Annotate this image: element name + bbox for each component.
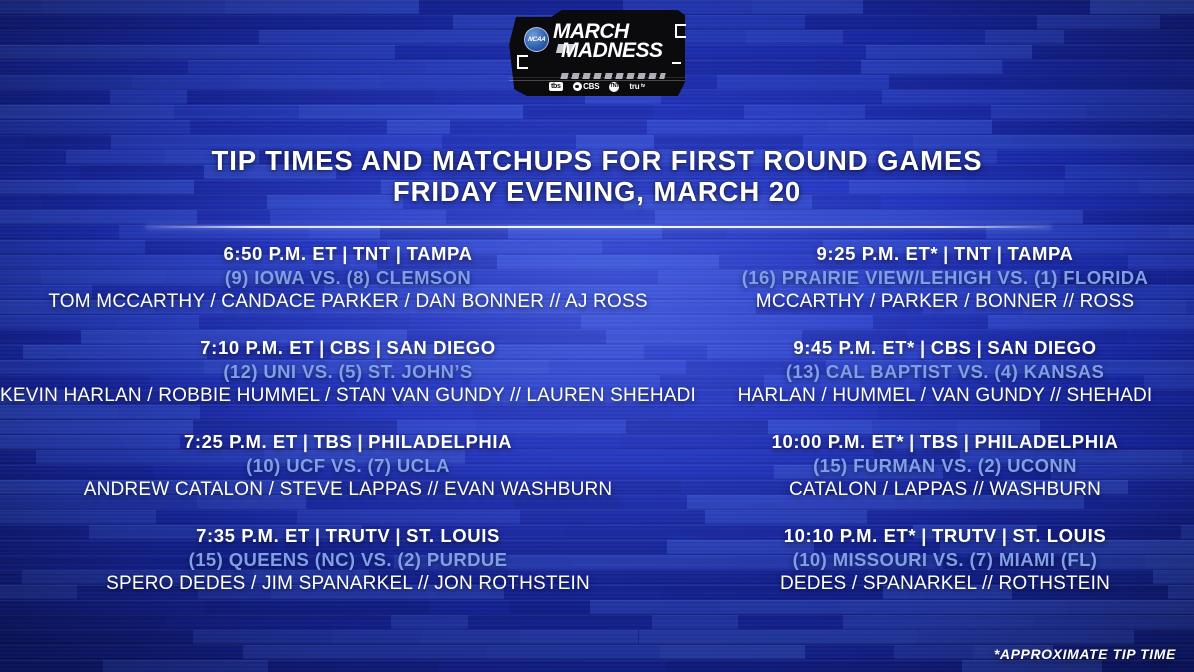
game-network: TRUTV: [326, 525, 391, 546]
game-city: ST. LOUIS: [1012, 525, 1106, 546]
game-city: PHILADELPHIA: [368, 431, 512, 452]
header-separator: |: [390, 525, 406, 546]
game-city: SAN DIEGO: [387, 337, 496, 358]
tbs-logo-label: tbs: [549, 82, 563, 91]
header-separator: |: [916, 525, 932, 546]
game-time: 10:10 P.M. ET*: [784, 525, 916, 546]
approximate-tip-time-footnote: *APPROXIMATE TIP TIME: [994, 646, 1176, 662]
ncaa-mark-label: NCAA: [527, 36, 546, 43]
game-broadcast-crew: TOM MCCARTHY / CANDACE PARKER / DAN BONN…: [0, 291, 696, 313]
tnt-logo-icon: TNT: [609, 82, 619, 92]
page-title-line1: TIP TIMES AND MATCHUPS FOR FIRST ROUND G…: [212, 145, 983, 176]
tbs-logo-icon: tbs: [549, 82, 563, 91]
header-separator: |: [938, 243, 954, 264]
march-madness-logo-wrap: NCAA MARCH MADNESS tbs CBS: [0, 10, 1194, 96]
game-matchup: (15) FURMAN VS. (2) UCONN: [696, 455, 1194, 477]
network-logo-row: tbs CBS TNT trutv: [509, 79, 685, 94]
logo-wordmark: MARCH MADNESS: [553, 22, 671, 61]
game-city: TAMPA: [407, 243, 473, 264]
game-network: TBS: [314, 431, 353, 452]
game-broadcast-crew: DEDES / SPANARKEL // ROTHSTEIN: [696, 573, 1194, 595]
trutv-logo-icon: trutv: [629, 83, 645, 91]
game-header: 7:35 P.M. ET|TRUTV|ST. LOUIS: [0, 525, 696, 547]
header-separator: |: [915, 337, 931, 358]
game-city: PHILADELPHIA: [975, 431, 1119, 452]
games-column-right: 9:25 P.M. ET*|TNT|TAMPA (16) PRAIRIE VIE…: [696, 243, 1194, 619]
header-separator: |: [298, 431, 314, 452]
game-matchup: (16) PRAIRIE VIEW/LEHIGH VS. (1) FLORIDA: [696, 267, 1194, 289]
game-matchup: (10) UCF VS. (7) UCLA: [0, 455, 696, 477]
game-network: CBS: [330, 337, 371, 358]
game-card: 9:25 P.M. ET*|TNT|TAMPA (16) PRAIRIE VIE…: [696, 243, 1194, 313]
games-column-left: 6:50 P.M. ET|TNT|TAMPA (9) IOWA VS. (8) …: [0, 243, 696, 619]
game-card: 10:00 P.M. ET*|TBS|PHILADELPHIA (15) FUR…: [696, 431, 1194, 501]
game-time: 9:25 P.M. ET*: [817, 243, 939, 264]
game-card: 7:10 P.M. ET|CBS|SAN DIEGO (12) UNI VS. …: [0, 337, 696, 407]
game-time: 7:10 P.M. ET: [200, 337, 314, 358]
header-separator: |: [337, 243, 353, 264]
game-city: SAN DIEGO: [987, 337, 1096, 358]
game-header: 10:00 P.M. ET*|TBS|PHILADELPHIA: [696, 431, 1194, 453]
game-broadcast-crew: ANDREW CATALON / STEVE LAPPAS // EVAN WA…: [0, 479, 696, 501]
game-matchup: (12) UNI VS. (5) ST. JOHN’S: [0, 361, 696, 383]
header-separator: |: [314, 337, 330, 358]
game-header: 7:10 P.M. ET|CBS|SAN DIEGO: [0, 337, 696, 359]
page-title: TIP TIMES AND MATCHUPS FOR FIRST ROUND G…: [0, 145, 1194, 207]
cbs-logo-label: CBS: [583, 83, 599, 91]
game-broadcast-crew: KEVIN HARLAN / ROBBIE HUMMEL / STAN VAN …: [0, 385, 696, 407]
games-grid: 6:50 P.M. ET|TNT|TAMPA (9) IOWA VS. (8) …: [0, 243, 1194, 619]
bracket-stub-icon: [672, 62, 681, 64]
header-separator: |: [972, 337, 988, 358]
game-header: 7:25 P.M. ET|TBS|PHILADELPHIA: [0, 431, 696, 453]
game-broadcast-crew: MCCARTHY / PARKER / BONNER // ROSS: [696, 291, 1194, 313]
tnt-logo-label: TNT: [609, 82, 619, 92]
bracket-icon-left: [517, 55, 519, 69]
title-divider: [146, 226, 1051, 228]
game-card: 9:45 P.M. ET*|CBS|SAN DIEGO (13) CAL BAP…: [696, 337, 1194, 407]
game-matchup: (10) MISSOURI VS. (7) MIAMI (FL): [696, 549, 1194, 571]
ncaa-logo-icon: NCAA: [524, 27, 549, 52]
header-separator: |: [391, 243, 407, 264]
game-network: TBS: [920, 431, 959, 452]
game-time: 6:50 P.M. ET: [223, 243, 337, 264]
game-time: 9:45 P.M. ET*: [793, 337, 915, 358]
game-header: 6:50 P.M. ET|TNT|TAMPA: [0, 243, 696, 265]
game-time: 7:25 P.M. ET: [184, 431, 298, 452]
trutv-logo-sup: tv: [641, 84, 645, 89]
cbs-eye-icon: [573, 82, 582, 91]
logo-wordmark-line2: MADNESS: [561, 41, 671, 60]
game-network: TNT: [353, 243, 391, 264]
game-broadcast-crew: CATALON / LAPPAS // WASHBURN: [696, 479, 1194, 501]
header-separator: |: [992, 243, 1008, 264]
trutv-logo-label: tru: [629, 83, 639, 91]
game-card: 10:10 P.M. ET*|TRUTV|ST. LOUIS (10) MISS…: [696, 525, 1194, 595]
game-network: TRUTV: [932, 525, 997, 546]
header-separator: |: [959, 431, 975, 452]
game-matchup: (9) IOWA VS. (8) CLEMSON: [0, 267, 696, 289]
header-separator: |: [904, 431, 920, 452]
game-time: 7:35 P.M. ET: [196, 525, 310, 546]
game-time: 10:00 P.M. ET*: [772, 431, 904, 452]
game-header: 10:10 P.M. ET*|TRUTV|ST. LOUIS: [696, 525, 1194, 547]
game-card: 6:50 P.M. ET|TNT|TAMPA (9) IOWA VS. (8) …: [0, 243, 696, 313]
game-matchup: (13) CAL BAPTIST VS. (4) KANSAS: [696, 361, 1194, 383]
game-network: CBS: [931, 337, 972, 358]
header-separator: |: [352, 431, 368, 452]
header-separator: |: [997, 525, 1013, 546]
march-madness-logo: NCAA MARCH MADNESS tbs CBS: [509, 10, 685, 96]
header-separator: |: [310, 525, 326, 546]
game-matchup: (15) QUEENS (NC) VS. (2) PURDUE: [0, 549, 696, 571]
game-card: 7:35 P.M. ET|TRUTV|ST. LOUIS (15) QUEENS…: [0, 525, 696, 595]
game-city: ST. LOUIS: [406, 525, 500, 546]
page-title-line2: FRIDAY EVENING, MARCH 20: [0, 176, 1194, 207]
game-header: 9:45 P.M. ET*|CBS|SAN DIEGO: [696, 337, 1194, 359]
cbs-logo-icon: CBS: [573, 82, 600, 91]
game-card: 7:25 P.M. ET|TBS|PHILADELPHIA (10) UCF V…: [0, 431, 696, 501]
game-broadcast-crew: SPERO DEDES / JIM SPANARKEL // JON ROTHS…: [0, 573, 696, 595]
game-network: TNT: [954, 243, 992, 264]
header-separator: |: [371, 337, 387, 358]
bracket-icon-right: [675, 24, 677, 38]
game-city: TAMPA: [1007, 243, 1073, 264]
game-header: 9:25 P.M. ET*|TNT|TAMPA: [696, 243, 1194, 265]
game-broadcast-crew: HARLAN / HUMMEL / VAN GUNDY // SHEHADI: [696, 385, 1194, 407]
logo-hairline-2: [509, 77, 685, 78]
